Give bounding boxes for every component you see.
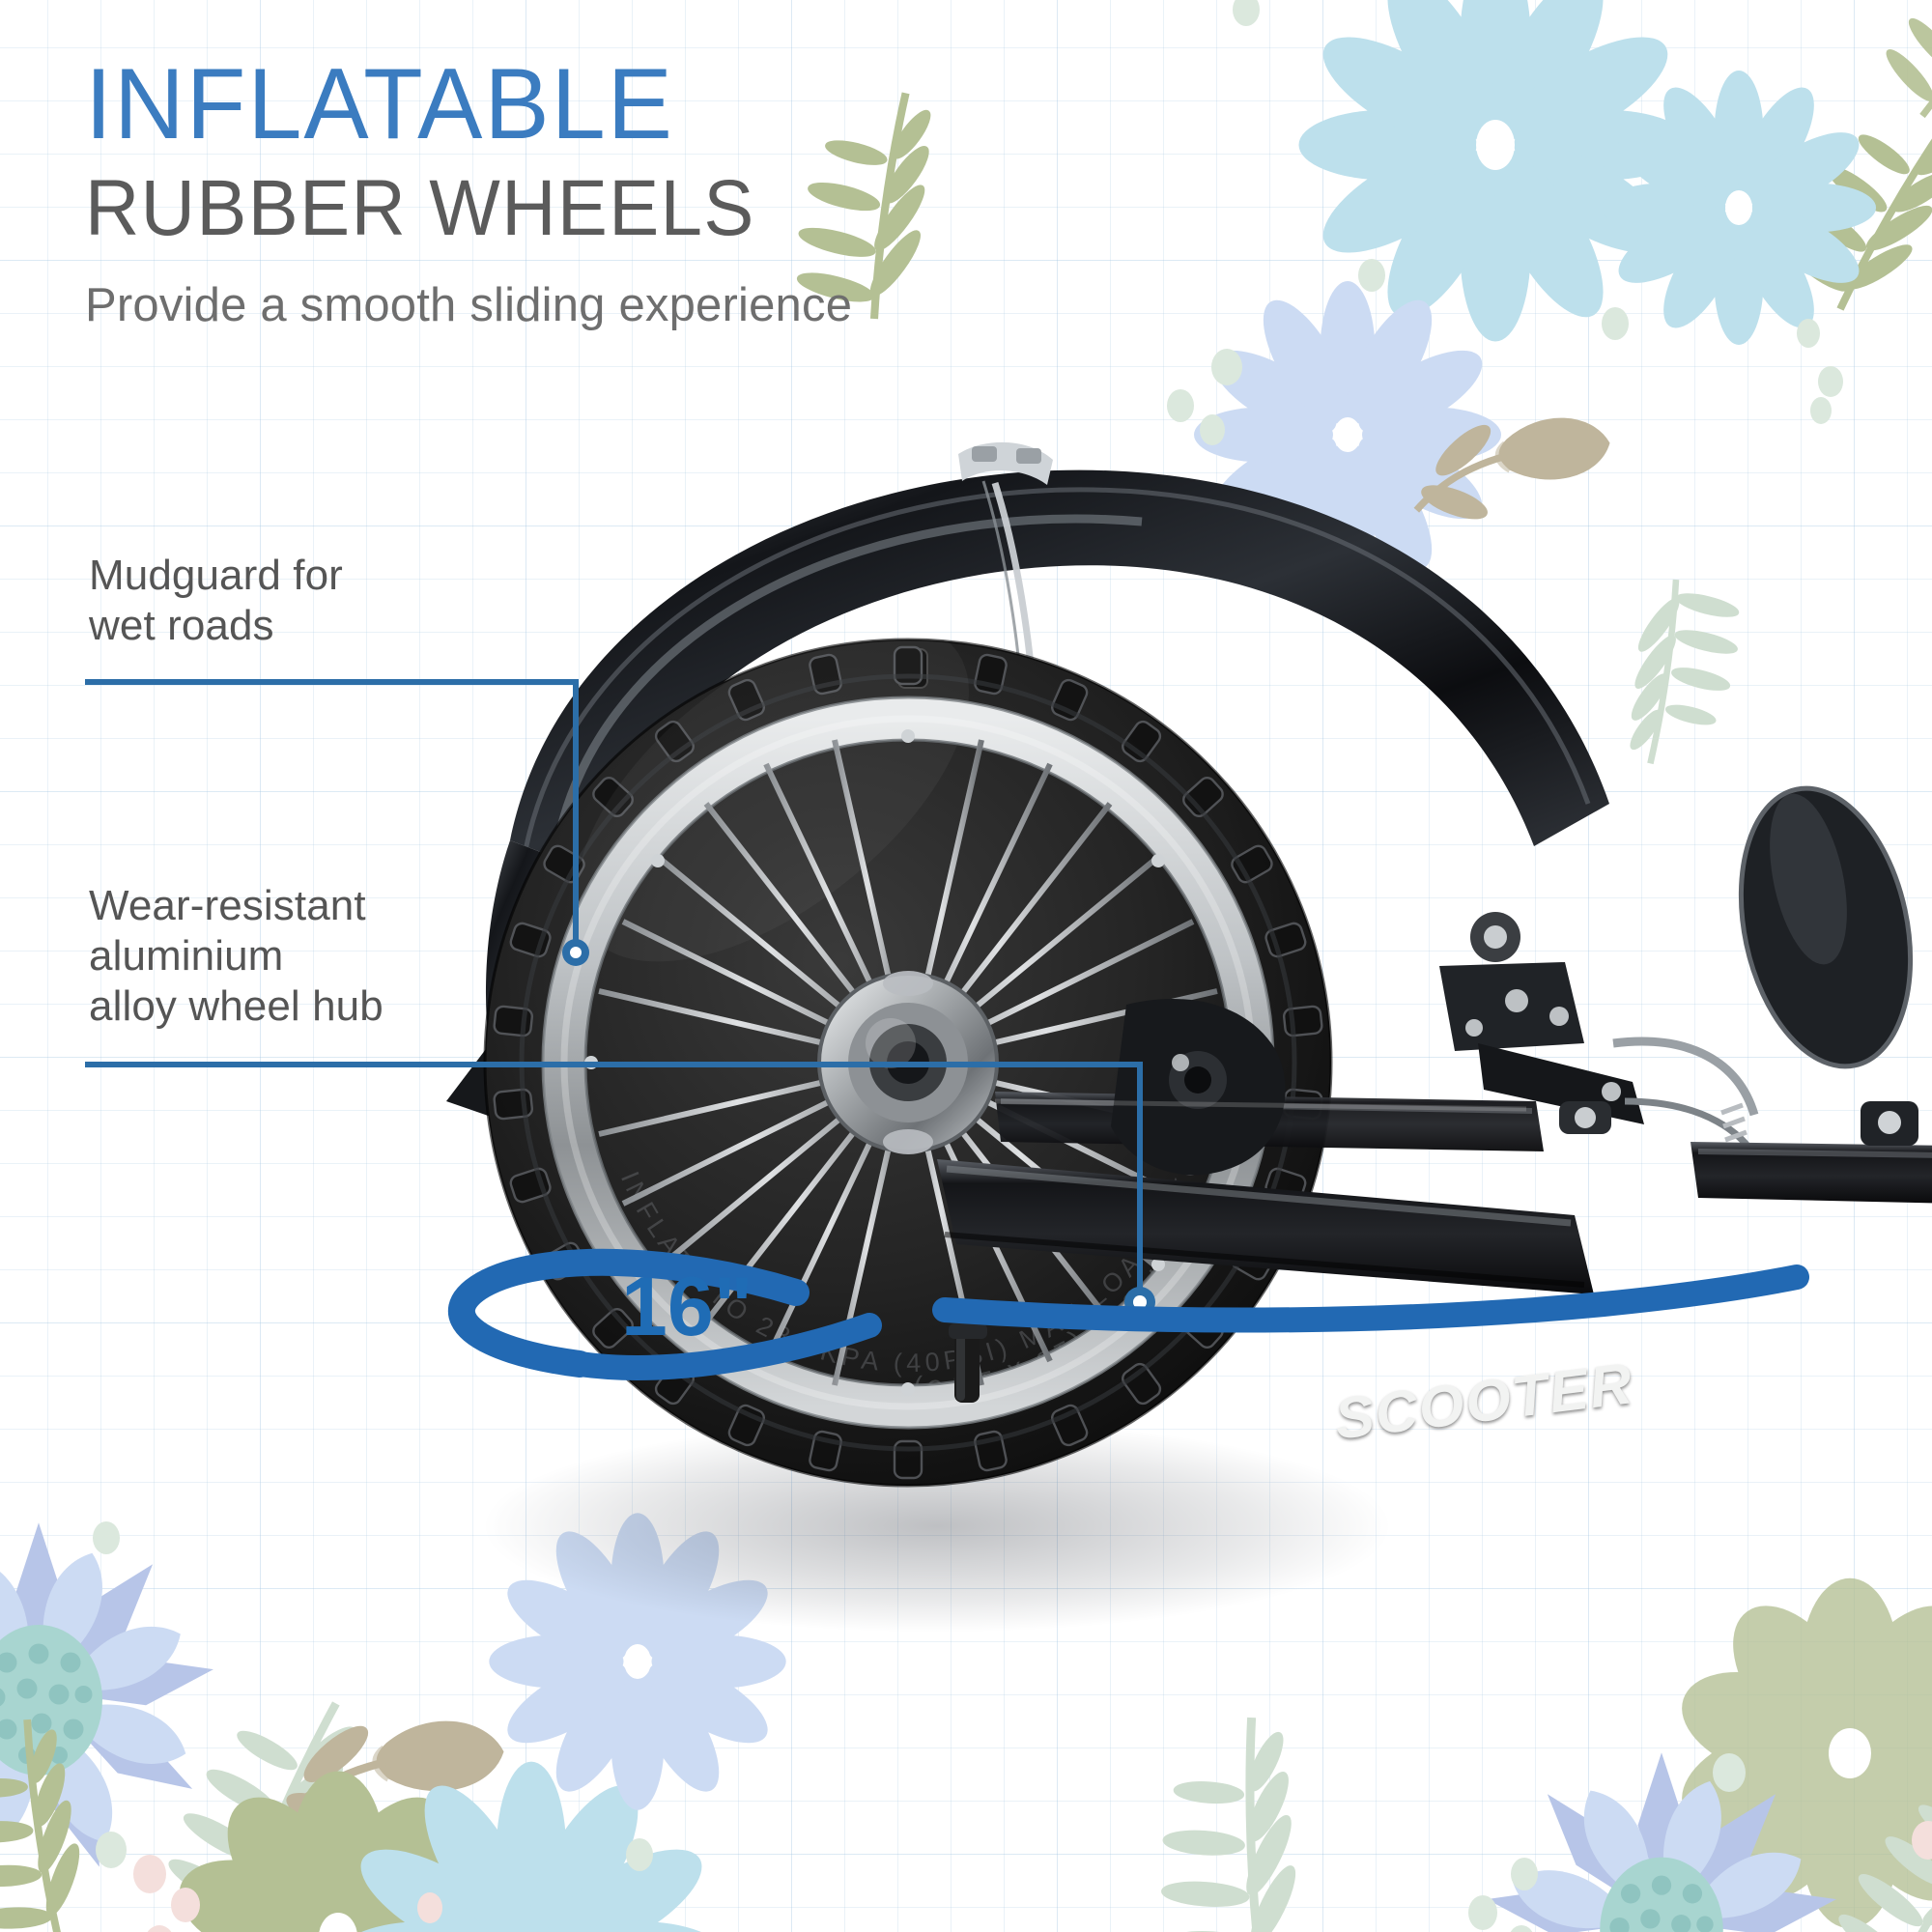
- decor-dots-top: [1167, 0, 1843, 445]
- decor-fern-top-2: [1771, 87, 1932, 329]
- product-photo-scooter-wheel: INFLATE TO 280 KPA (40PSI) MAX LOAD 50KG…: [319, 425, 1932, 1681]
- decor-bud-bottom-left: [273, 1708, 508, 1846]
- decor-fern-top-3: [1865, 0, 1932, 149]
- callout-mudguard-text: Mudguard for wet roads: [89, 551, 343, 651]
- decor-daisy-top-small: [1602, 71, 1876, 345]
- decor-dots-bottom-right: [1468, 1753, 1746, 1932]
- header-block: INFLATABLE RUBBER WHEELS Provide a smoot…: [85, 56, 852, 332]
- decor-fern-mint-bl: [157, 1683, 364, 1932]
- decor-fern-sage-bl: [0, 1709, 136, 1932]
- page-title-secondary: RUBBER WHEELS: [85, 168, 813, 249]
- callout-mudguard: Mudguard for wet roads: [89, 551, 343, 651]
- rear-mud-flap: [1717, 773, 1932, 1083]
- decor-cosmos-bottom-right: [1464, 1733, 1859, 1932]
- decor-cosmos-bottom-left: [0, 1499, 240, 1900]
- page-subtitle: Provide a smooth sliding experience: [85, 278, 852, 332]
- decor-daisy-blue-bl: [337, 1762, 726, 1932]
- decor-daisy-top-large: [1298, 0, 1691, 342]
- scooter-deck-bar: [1690, 1101, 1932, 1204]
- decor-daisy-green-bl: [166, 1772, 509, 1932]
- callout-wheel-hub: Wear-resistant aluminium alloy wheel hub: [89, 881, 384, 1032]
- callout-wheel-hub-text: Wear-resistant aluminium alloy wheel hub: [89, 881, 384, 1032]
- page-title-primary: INFLATABLE: [85, 56, 829, 155]
- measurement-label-16-inch: 16": [621, 1265, 753, 1349]
- infographic-canvas: INFLATABLE RUBBER WHEELS Provide a smoot…: [0, 0, 1932, 1932]
- decor-dot-pink-br: [1912, 1821, 1932, 1860]
- decor-fern-mint-br-1: [1107, 1709, 1354, 1932]
- decor-fern-mint-br-2: [1822, 1754, 1932, 1932]
- decor-dots-bottom-left: [133, 1855, 442, 1932]
